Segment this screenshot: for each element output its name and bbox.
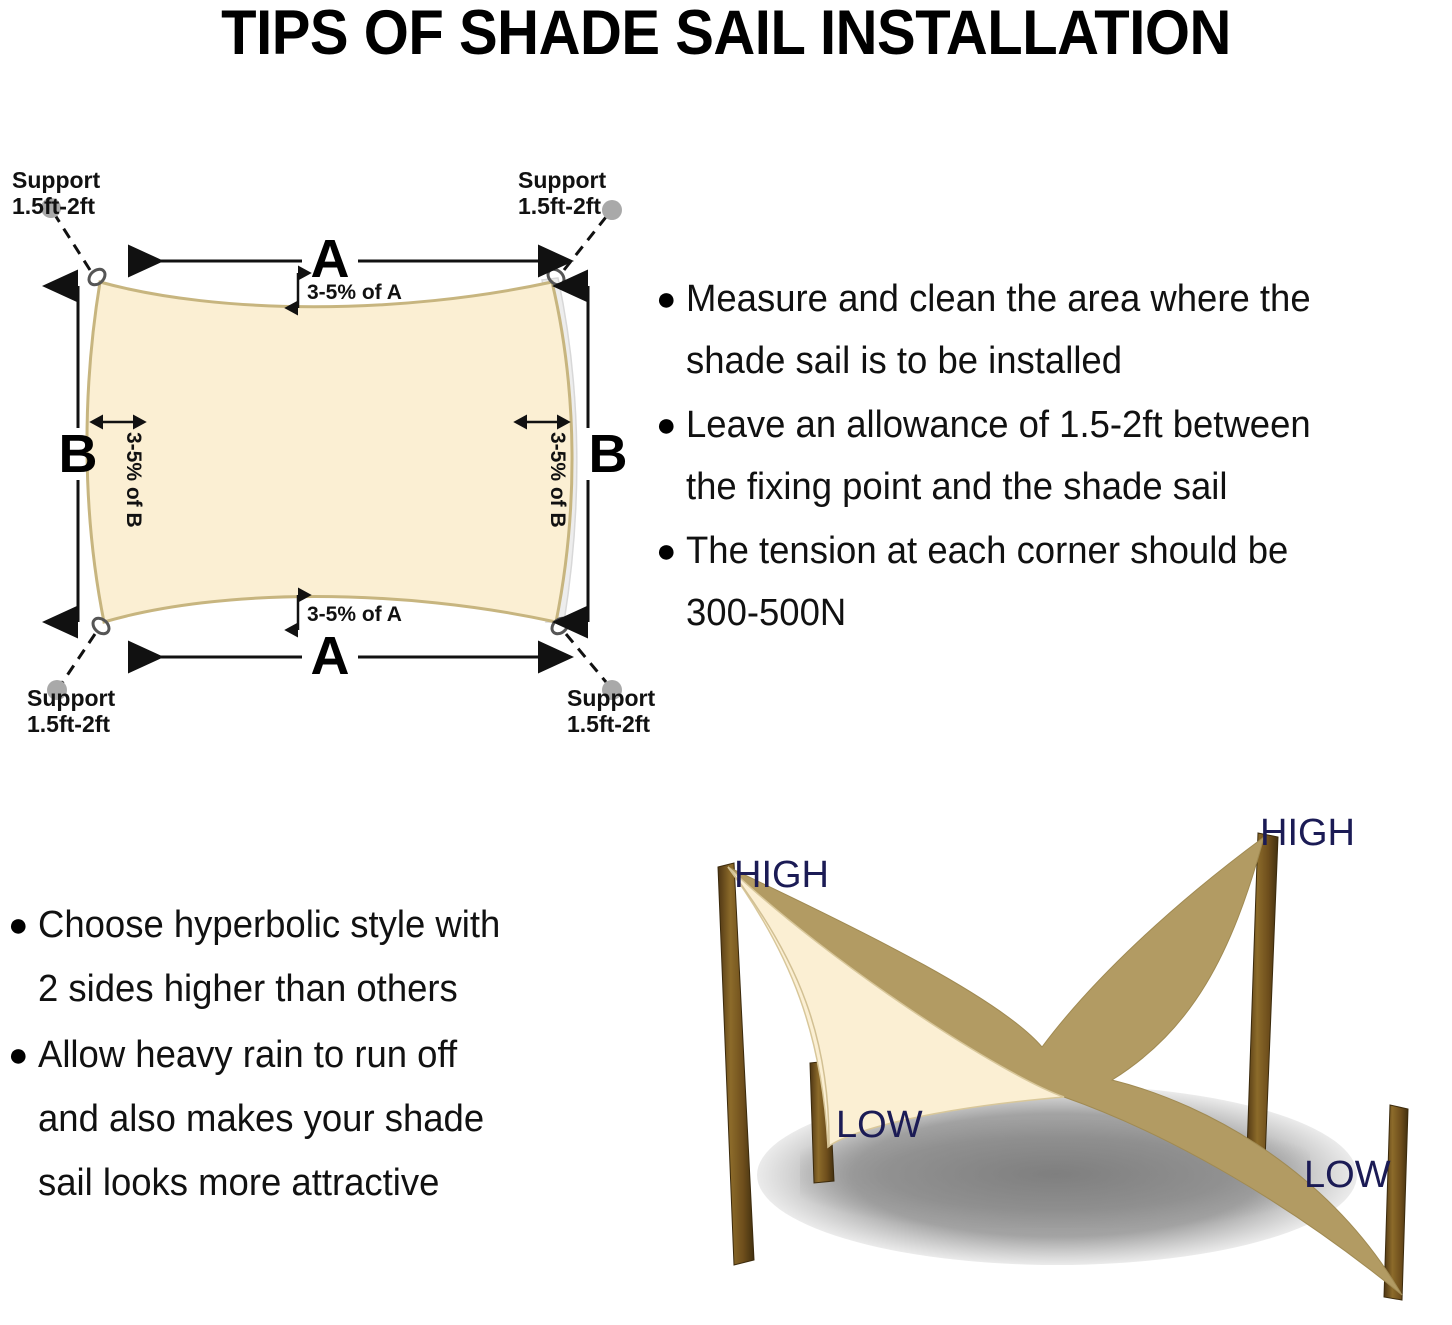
sag-label-bottom: 3-5% of A — [307, 603, 402, 626]
sag-label-left: 3-5% of B — [122, 432, 145, 528]
label-low-left: LOW — [836, 1104, 923, 1146]
list-item: ● Measure and clean the area where the s… — [648, 268, 1452, 392]
hyperbolic-sail-illustration: HIGH HIGH LOW LOW — [672, 775, 1452, 1325]
dimension-label-right-b: B — [589, 424, 628, 484]
dimension-label-left-b: B — [59, 424, 98, 484]
page-title: TIPS OF SHADE SAIL INSTALLATION — [58, 0, 1394, 66]
tip-text: The tension at each corner should be 300… — [686, 520, 1421, 644]
support-label-line2: 1.5ft-2ft — [518, 193, 601, 219]
list-item: ● Leave an allowance of 1.5-2ft between … — [648, 394, 1452, 518]
list-item: ● The tension at each corner should be 3… — [648, 520, 1452, 644]
support-label-top-right: Support 1.5ft-2ft — [518, 167, 606, 219]
support-label-top-left: Support 1.5ft-2ft — [12, 167, 100, 219]
installation-tips-list: ● Measure and clean the area where the s… — [648, 268, 1452, 646]
support-label-bottom-right: Support 1.5ft-2ft — [567, 685, 655, 737]
list-item: ● Choose hyperbolic style with 2 sides h… — [0, 893, 625, 1021]
support-label-line2: 1.5ft-2ft — [567, 711, 650, 737]
shade-sail-shape — [87, 282, 572, 622]
label-high-right: HIGH — [1260, 812, 1355, 854]
dimension-label-top-a: A — [311, 229, 350, 289]
support-label-line1: Support — [12, 167, 100, 193]
support-label-line2: 1.5ft-2ft — [12, 193, 95, 219]
bullet-icon: ● — [648, 394, 686, 456]
list-item: ● Allow heavy rain to run off and also m… — [0, 1023, 625, 1215]
bullet-icon: ● — [648, 520, 686, 582]
sag-label-right: 3-5% of B — [546, 432, 569, 528]
hyperbolic-style-tips-list: ● Choose hyperbolic style with 2 sides h… — [0, 893, 625, 1217]
dimension-label-bottom-a: A — [311, 626, 350, 686]
pole-front-right-low — [1384, 1105, 1408, 1300]
pole-back-left — [718, 863, 754, 1265]
bullet-icon: ● — [0, 893, 38, 957]
tip-text: Choose hyperbolic style with 2 sides hig… — [38, 893, 602, 1021]
sag-label-top: 3-5% of A — [307, 281, 402, 304]
bullet-icon: ● — [648, 268, 686, 330]
rectangular-sail-diagram: Support 1.5ft-2ft Support 1.5ft-2ft Supp… — [0, 160, 660, 740]
bullet-icon: ● — [0, 1023, 38, 1087]
tip-text: Allow heavy rain to run off and also mak… — [38, 1023, 602, 1215]
support-label-line1: Support — [567, 685, 655, 711]
support-label-bottom-left: Support 1.5ft-2ft — [27, 685, 115, 737]
support-label-line1: Support — [518, 167, 606, 193]
support-label-line2: 1.5ft-2ft — [27, 711, 110, 737]
support-label-line1: Support — [27, 685, 115, 711]
label-high-left: HIGH — [734, 854, 829, 896]
tip-text: Measure and clean the area where the sha… — [686, 268, 1421, 392]
label-low-right: LOW — [1304, 1154, 1391, 1196]
tip-text: Leave an allowance of 1.5-2ft between th… — [686, 394, 1421, 518]
